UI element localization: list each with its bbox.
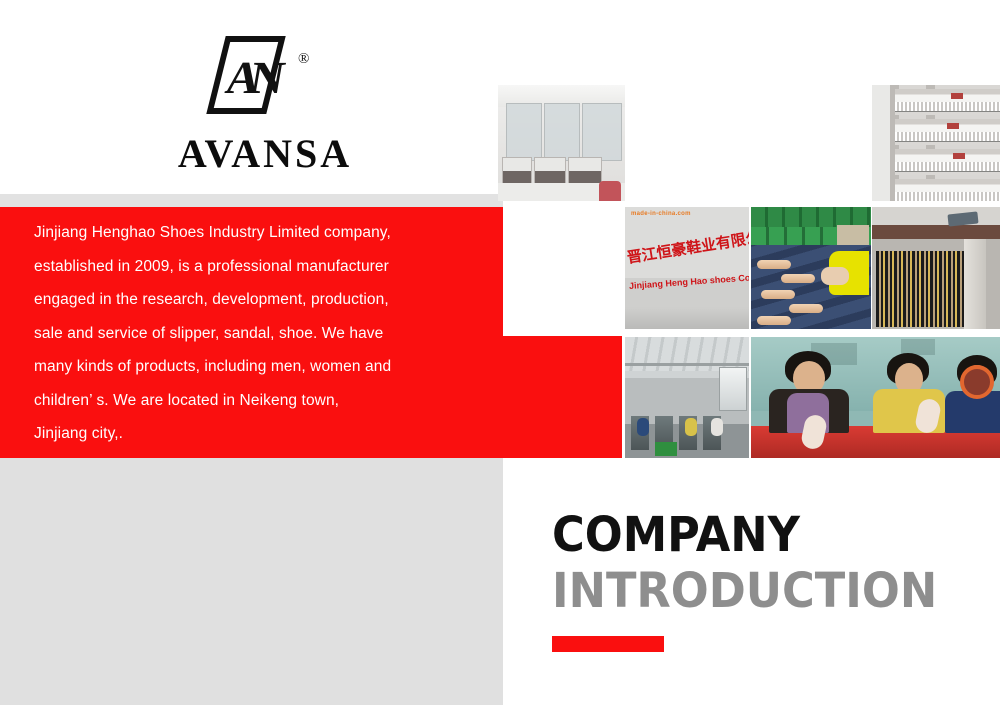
photo-office-interior	[498, 85, 625, 201]
building-railing	[895, 192, 1000, 201]
polishing-wheel	[960, 365, 994, 399]
green-stool	[655, 442, 677, 456]
signboard-chinese-name: 晋江恒豪鞋业有限公司	[625, 227, 749, 268]
factory-worker	[685, 418, 697, 436]
heading-line-introduction: INTRODUCTION	[552, 562, 943, 620]
shoe-sole	[757, 316, 791, 325]
logo-monogram-letters: AN	[209, 36, 297, 118]
building-floor-level	[895, 149, 1000, 175]
photo-factory-gate	[872, 207, 1000, 329]
building-floor-level	[895, 179, 1000, 201]
building-railing	[895, 132, 1000, 141]
slide-canvas: AN ® AVANSA Jinjiang Henghao Shoes Indus…	[0, 0, 1000, 707]
factory-worker	[711, 418, 723, 436]
registered-trademark-icon: ®	[298, 52, 309, 67]
building-floor-level	[895, 89, 1000, 115]
company-intro-paragraph: Jinjiang Henghao Shoes Industry Limited …	[34, 216, 494, 451]
photo-production-line	[751, 207, 871, 329]
photo-company-signboard: made-in-china.com 晋江恒豪鞋业有限公司 Jinjiang He…	[625, 207, 749, 329]
section-heading: COMPANY INTRODUCTION	[552, 508, 972, 652]
building-sign-accent	[953, 153, 965, 159]
shoe-sole	[757, 260, 791, 269]
building-railing	[895, 162, 1000, 171]
logo-monogram-icon: AN	[216, 36, 290, 118]
factory-beam	[625, 363, 749, 366]
factory-worker	[637, 418, 649, 436]
gate-lintel	[872, 225, 1000, 239]
gate-post	[964, 239, 986, 329]
gray-panel-bottom	[0, 458, 503, 705]
office-glass-panel	[544, 103, 580, 161]
factory-window	[719, 367, 747, 411]
gate-fence	[876, 251, 964, 327]
heading-line-company: COMPANY	[552, 508, 943, 562]
shoe-sole	[761, 290, 795, 299]
brand-wordmark: AVANSA	[150, 130, 380, 177]
building-railing	[895, 102, 1000, 111]
office-chair	[599, 181, 621, 201]
photo-workers-assembling	[751, 337, 1000, 458]
shoe-sole	[781, 274, 815, 283]
signboard-shadow	[625, 307, 749, 329]
building-sign-accent	[947, 123, 959, 129]
brand-logo: AN ® AVANSA	[150, 36, 380, 186]
gray-accent-band	[0, 194, 503, 208]
photo-factory-sewing-floor	[625, 337, 749, 458]
photo-building-facade	[872, 85, 1000, 201]
office-glass-panel	[506, 103, 542, 161]
building-sign-accent	[951, 93, 963, 99]
watermark-text: made-in-china.com	[631, 211, 691, 217]
signboard-english-name: Jinjiang Heng Hao shoes Co.,Ltd	[629, 272, 749, 291]
worker-hand	[821, 267, 849, 285]
office-glass-panel	[582, 103, 622, 161]
building-floor-level	[895, 119, 1000, 145]
heading-underline-bar	[552, 636, 664, 652]
shoe-sole	[789, 304, 823, 313]
